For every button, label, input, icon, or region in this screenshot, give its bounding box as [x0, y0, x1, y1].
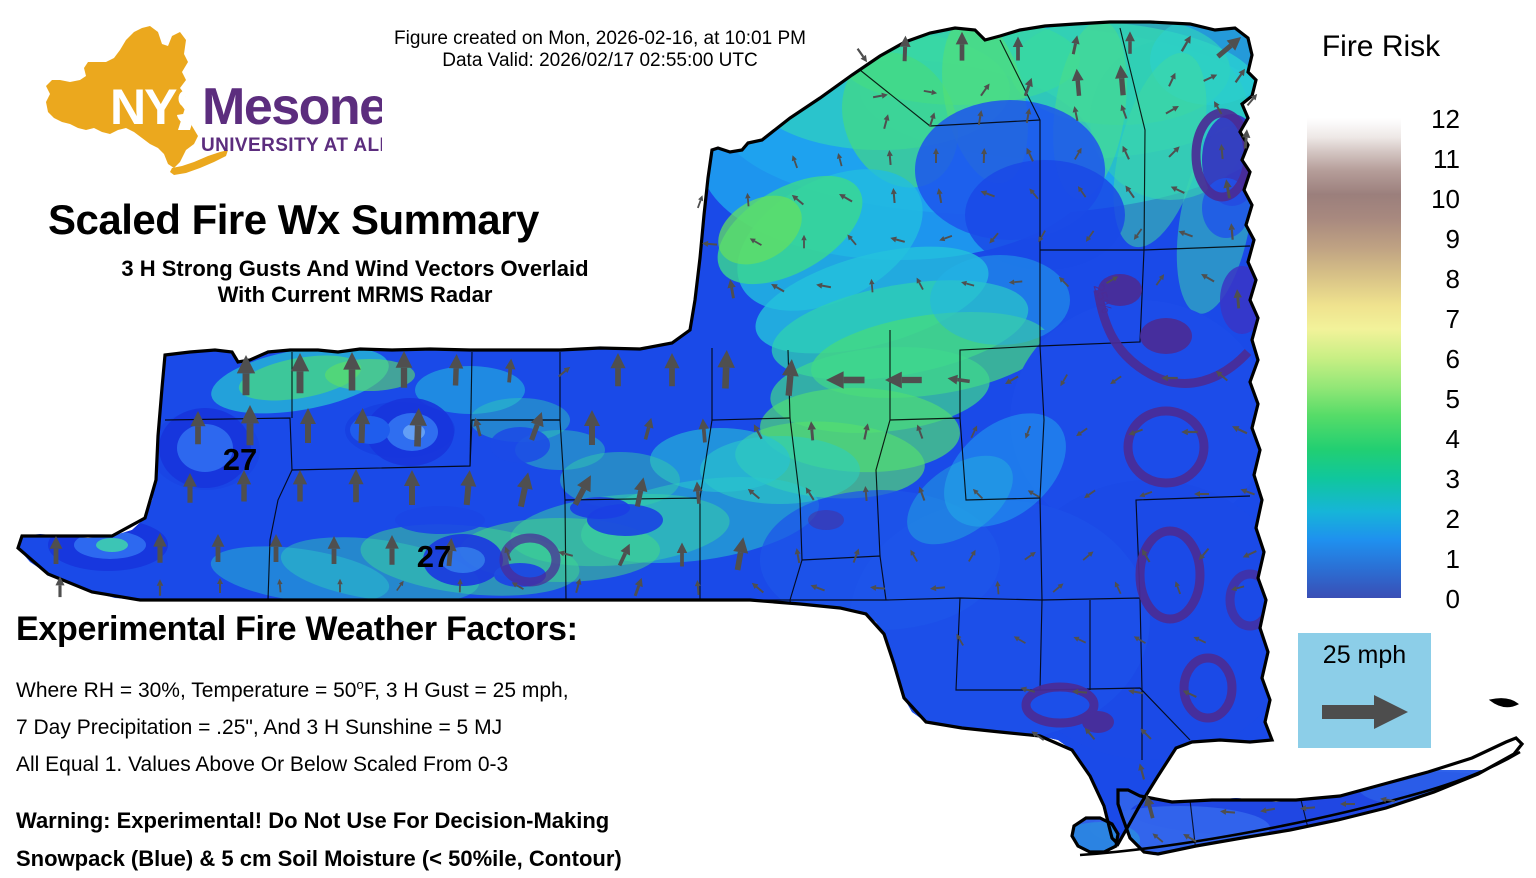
colorbar-tick-11: 11: [1416, 146, 1460, 172]
colorbar-tick-1: 1: [1416, 546, 1460, 572]
warning-line-1: Warning: Experimental! Do Not Use For De…: [16, 802, 622, 840]
colorbar-tick-4: 4: [1416, 426, 1460, 452]
warning-line-2: Snowpack (Blue) & 5 cm Soil Moisture (< …: [16, 840, 622, 878]
colorbar-tick-9: 9: [1416, 226, 1460, 252]
data-valid-line: Data Valid: 2026/02/17 02:55:00 UTC: [345, 50, 855, 72]
colorbar-tick-12: 12: [1416, 106, 1460, 132]
factors-line-1b: F, 3 H Gust = 25 mph,: [364, 679, 569, 702]
nys-mesonet-logo: NYS Mesonet UNIVERSITY AT ALBANY: [22, 18, 382, 178]
colorbar-tick-2: 2: [1416, 506, 1460, 532]
wind-legend-label: 25 mph: [1298, 641, 1431, 670]
colorbar-tick-7: 7: [1416, 306, 1460, 332]
factors-line-1: Where RH = 30%, Temperature = 50oF, 3 H …: [16, 672, 569, 709]
colorbar-title: Fire Risk: [1306, 30, 1456, 64]
factors-heading: Experimental Fire Weather Factors:: [16, 610, 578, 649]
colorbar-tick-3: 3: [1416, 466, 1460, 492]
subtitle-line-2: With Current MRMS Radar: [40, 282, 670, 308]
factors-line-3: All Equal 1. Values Above Or Below Scale…: [16, 746, 569, 783]
subtitle-line-1: 3 H Strong Gusts And Wind Vectors Overla…: [40, 256, 670, 282]
degree-symbol: o: [356, 677, 363, 692]
logo-university-text: UNIVERSITY AT ALBANY: [201, 135, 382, 156]
figure-timestamp-block: Figure created on Mon, 2026-02-16, at 10…: [345, 28, 855, 72]
figure-created-line: Figure created on Mon, 2026-02-16, at 10…: [345, 28, 855, 50]
colorbar-tick-labels: 1211109876543210: [1416, 104, 1476, 614]
colorbar-tick-6: 6: [1416, 346, 1460, 372]
page-subtitle: 3 H Strong Gusts And Wind Vectors Overla…: [40, 256, 670, 308]
colorbar-tick-8: 8: [1416, 266, 1460, 292]
factors-line-1a: Where RH = 30%, Temperature = 50: [16, 679, 356, 702]
right-arrow-icon: [1322, 695, 1408, 734]
colorbar-tick-5: 5: [1416, 386, 1460, 412]
fire-risk-colorbar: [1307, 118, 1401, 598]
page-title: Scaled Fire Wx Summary: [48, 196, 539, 244]
logo-mesonet-text: Mesonet: [202, 78, 382, 136]
wind-vector-legend: 25 mph: [1298, 633, 1431, 748]
factors-description: Where RH = 30%, Temperature = 50oF, 3 H …: [16, 672, 569, 783]
colorbar-tick-0: 0: [1416, 586, 1460, 612]
colorbar-tick-10: 10: [1416, 186, 1460, 212]
factors-line-2: 7 Day Precipitation = .25", And 3 H Suns…: [16, 709, 569, 746]
contour-label-27: 27: [417, 539, 451, 574]
contour-label-27: 27: [223, 442, 257, 477]
warning-block: Warning: Experimental! Do Not Use For De…: [16, 802, 622, 878]
